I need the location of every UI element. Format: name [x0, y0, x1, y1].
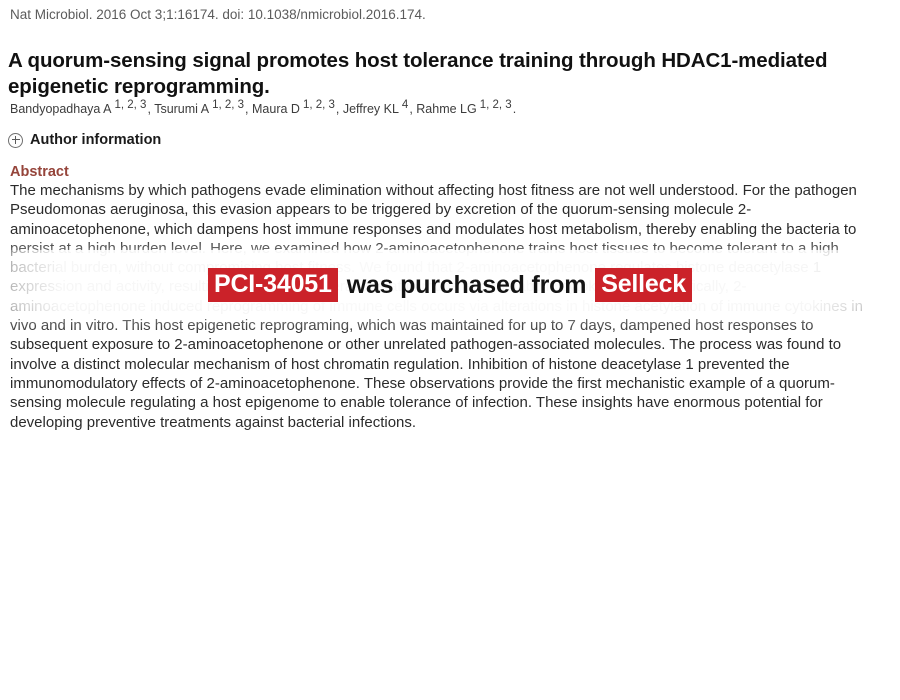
page-title: A quorum-sensing signal promotes host to…: [8, 48, 892, 100]
author-name[interactable]: Jeffrey KL: [343, 102, 399, 116]
plus-circle-icon: [8, 133, 23, 148]
author-name[interactable]: Bandyopadhaya A: [10, 102, 111, 116]
abstract-page: Nat Microbiol. 2016 Oct 3;1:16174. doi: …: [0, 0, 900, 700]
author-name[interactable]: Tsurumi A: [154, 102, 209, 116]
author-name[interactable]: Maura D: [252, 102, 300, 116]
author-affiliation-marker: 4: [399, 99, 409, 111]
author-information-toggle[interactable]: Author information: [8, 132, 161, 148]
author-separator: .: [513, 102, 516, 116]
journal-citation: Nat Microbiol. 2016 Oct 3;1:16174. doi: …: [10, 6, 426, 24]
author-affiliation-marker: 1, 2, 3: [477, 99, 513, 111]
author-affiliation-marker: 1, 2, 3: [111, 99, 147, 111]
author-separator: ,: [336, 102, 343, 116]
author-affiliation-marker: 1, 2, 3: [209, 99, 245, 111]
author-name[interactable]: Rahme LG: [416, 102, 476, 116]
author-separator: ,: [245, 102, 252, 116]
abstract-text: The mechanisms by which pathogens evade …: [10, 181, 878, 432]
author-affiliation-marker: 1, 2, 3: [300, 99, 336, 111]
author-information-label: Author information: [30, 132, 161, 148]
author-list: Bandyopadhaya A1, 2, 3, Tsurumi A1, 2, 3…: [10, 101, 894, 118]
abstract-heading: Abstract: [10, 164, 69, 180]
